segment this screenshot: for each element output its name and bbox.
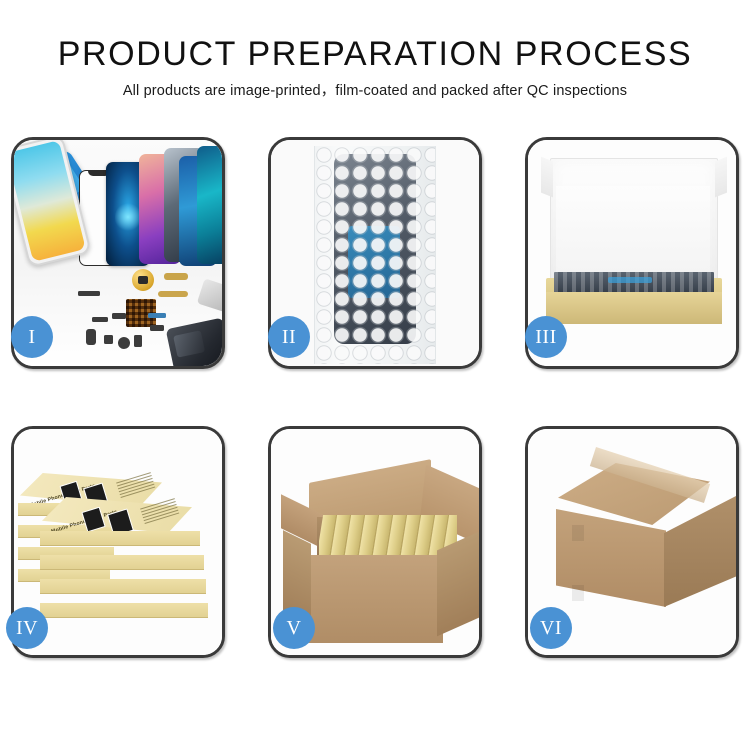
carton-hand-hole-icon-2 (572, 585, 584, 601)
step-panel-3[interactable]: III (525, 137, 739, 369)
retail-box-front-4 (40, 603, 208, 617)
phone-green-display-icon (197, 146, 222, 264)
step-panel-6[interactable]: VI (525, 426, 739, 658)
small-part-icon-6 (134, 335, 142, 347)
small-part-icon-4 (104, 335, 113, 344)
small-part-icon-1 (78, 291, 100, 296)
small-part-icon-2 (92, 317, 108, 322)
header: PRODUCT PREPARATION PROCESS All products… (0, 0, 750, 101)
phone-motherboard-icon (166, 317, 222, 366)
small-part-icon-3 (86, 329, 96, 345)
retail-box-front-1 (40, 531, 200, 545)
small-part-icon-5 (118, 337, 130, 349)
page-title: PRODUCT PREPARATION PROCESS (0, 34, 750, 74)
bubble-highlights-icon (315, 146, 435, 364)
flex-cable-part-icon-2 (158, 291, 188, 297)
step-panel-1[interactable]: I (11, 137, 225, 369)
flex-cable-part-icon (164, 273, 188, 280)
carton-hand-hole-icon-1 (572, 525, 584, 541)
retail-box-front-3 (40, 579, 206, 593)
product-preparation-infographic: PRODUCT PREPARATION PROCESS All products… (0, 0, 750, 750)
step-badge-1: I (11, 316, 53, 358)
mailer-box-front-panel (546, 292, 722, 324)
carton-front-panel (307, 555, 443, 643)
step-panel-2[interactable]: II (268, 137, 482, 369)
step-badge-3: III (525, 316, 567, 358)
process-steps-grid: I II III (11, 137, 739, 682)
step-badge-2: II (268, 316, 310, 358)
small-part-icon-9 (112, 313, 126, 319)
step-badge-4: IV (6, 607, 48, 649)
step-panel-4[interactable]: Mobile Phone Spare Parts Mobile Phone Sp… (11, 426, 225, 658)
repair-tool-icon (197, 278, 222, 313)
small-part-icon-7 (148, 313, 166, 318)
step-panel-5[interactable]: V (268, 426, 482, 658)
spare-parts-group (78, 277, 222, 366)
step-badge-5: V (273, 607, 315, 649)
speaker-part-icon (132, 269, 154, 291)
retail-box-front-2 (40, 555, 204, 569)
page-subtitle: All products are image-printed，film-coat… (0, 81, 750, 101)
step-badge-6: VI (530, 607, 572, 649)
foam-lining (556, 186, 710, 286)
small-part-icon-8 (150, 325, 164, 331)
